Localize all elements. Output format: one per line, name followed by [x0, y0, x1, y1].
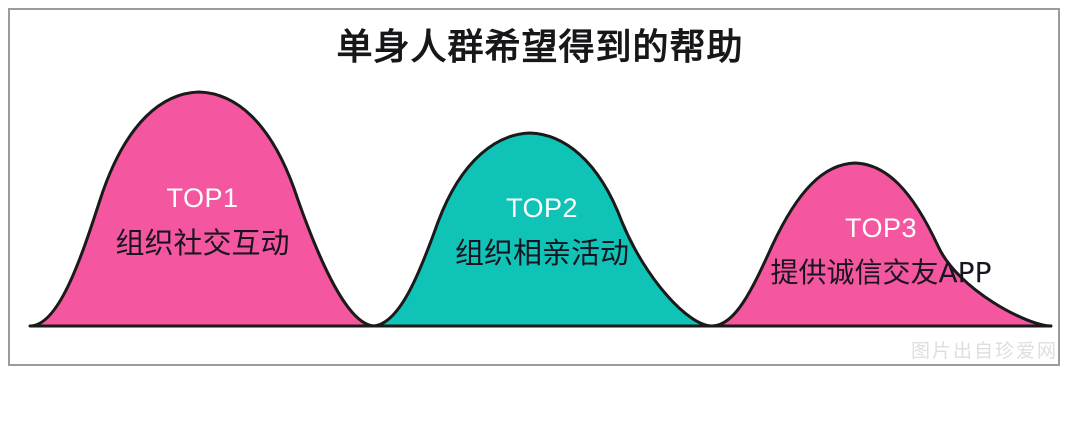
hill-shape-top1[interactable] — [30, 92, 375, 326]
hill-shape-top2[interactable] — [372, 133, 712, 326]
hills-chart — [0, 0, 1080, 442]
infographic-canvas: 单身人群希望得到的帮助 TOP1 组织社交互动 TOP2 组织相亲活动 TOP3… — [0, 0, 1080, 442]
source-watermark: 图片出自珍爱网 — [911, 336, 1058, 363]
hill-shape-top3[interactable] — [712, 163, 1051, 326]
